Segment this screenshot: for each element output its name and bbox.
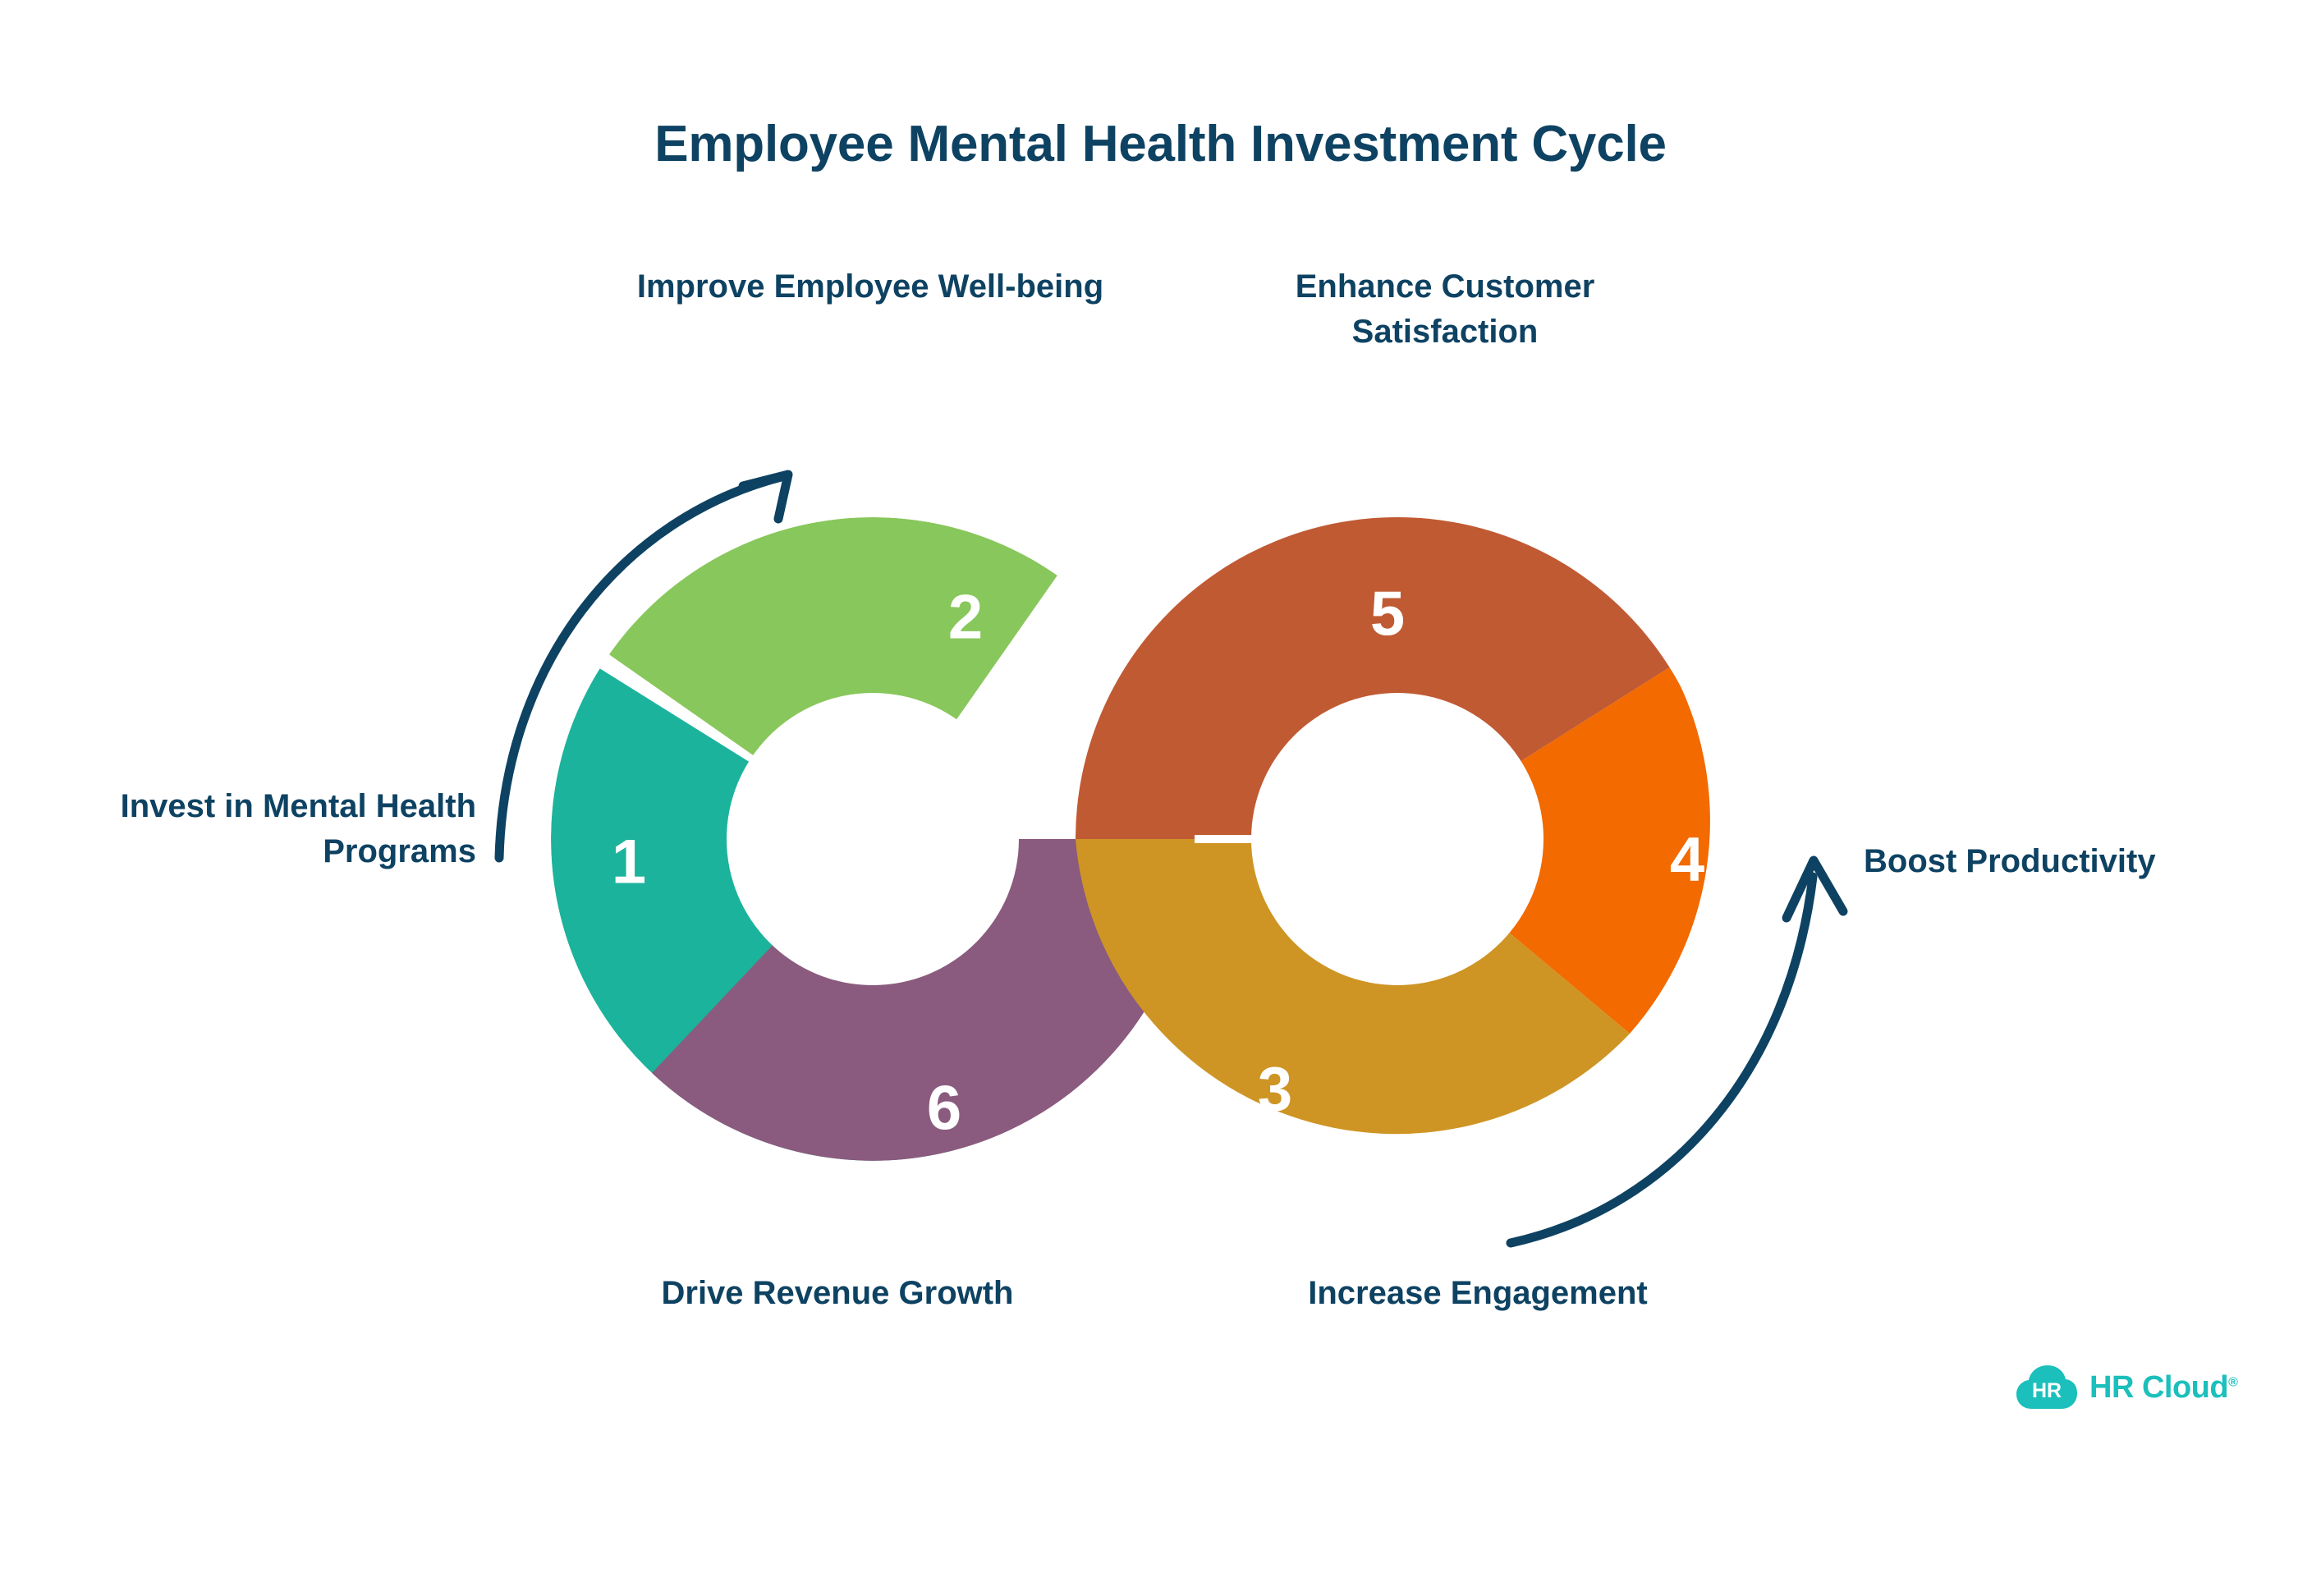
label-boost-productivity: Boost Productivity bbox=[1864, 839, 2258, 884]
cloud-icon: HR bbox=[2016, 1363, 2078, 1412]
infographic-canvas: Employee Mental Health Investment Cycle bbox=[0, 0, 2321, 1596]
segment-number-5: 5 bbox=[1370, 580, 1405, 649]
logo-registered-mark: ® bbox=[2228, 1375, 2237, 1389]
label-improve-wellbeing: Improve Employee Well-being bbox=[624, 264, 1117, 310]
hr-cloud-logo[interactable]: HR HR Cloud® bbox=[2016, 1363, 2237, 1412]
segment-number-1: 1 bbox=[612, 828, 646, 897]
cloud-icon-text: HR bbox=[2032, 1379, 2062, 1402]
segment-number-3: 3 bbox=[1258, 1055, 1292, 1125]
logo-wordmark: HR Cloud® bbox=[2089, 1370, 2237, 1406]
label-drive-revenue: Drive Revenue Growth bbox=[632, 1271, 1043, 1316]
label-increase-engagement: Increase Engagement bbox=[1232, 1271, 1724, 1316]
label-enhance-customer: Enhance Customer Satisfaction bbox=[1256, 264, 1634, 355]
segment-number-6: 6 bbox=[927, 1074, 961, 1144]
segment-number-2: 2 bbox=[948, 583, 983, 653]
label-invest-programs: Invest in Mental Health Programs bbox=[49, 784, 476, 874]
segment-number-4: 4 bbox=[1670, 825, 1704, 895]
logo-name: HR Cloud bbox=[2089, 1370, 2228, 1405]
